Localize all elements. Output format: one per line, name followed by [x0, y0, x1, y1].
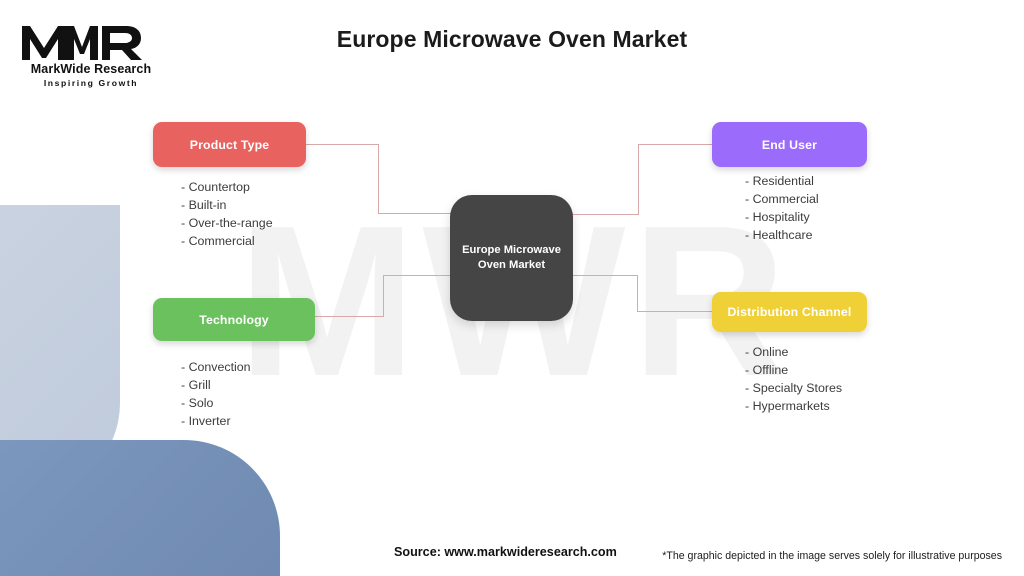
slide-canvas: MWR MarkWide Research Inspiring Growth E…: [0, 0, 1024, 576]
list-item: - Hypermarkets: [745, 397, 842, 415]
connector-product-type-seg3: [378, 213, 452, 214]
connector-technology-seg2: [383, 275, 384, 317]
branch-items-product-type: - Countertop - Built-in - Over-the-range…: [181, 178, 273, 250]
list-item: - Over-the-range: [181, 214, 273, 232]
branch-items-end-user: - Residential - Commercial - Hospitality…: [745, 172, 819, 244]
list-item: - Commercial: [745, 190, 819, 208]
brand-logo: MarkWide Research Inspiring Growth: [14, 20, 234, 92]
branch-label-product-type: Product Type: [190, 138, 269, 152]
center-node-label: Europe Microwave Oven Market: [454, 243, 569, 273]
logo-tagline: Inspiring Growth: [24, 78, 158, 88]
list-item: - Inverter: [181, 412, 251, 430]
branch-label-distribution-channel: Distribution Channel: [728, 305, 852, 319]
branch-label-end-user: End User: [762, 138, 817, 152]
branch-pill-product-type[interactable]: Product Type: [153, 122, 306, 167]
branch-items-distribution-channel: - Online - Offline - Specialty Stores - …: [745, 343, 842, 415]
page-title: Europe Microwave Oven Market: [212, 26, 812, 53]
list-item: - Countertop: [181, 178, 273, 196]
list-item: - Healthcare: [745, 226, 819, 244]
list-item: - Convection: [181, 358, 251, 376]
list-item: - Residential: [745, 172, 819, 190]
connector-product-type-seg2: [378, 144, 379, 213]
connector-technology-seg3: [383, 275, 452, 276]
list-item: - Built-in: [181, 196, 273, 214]
branch-items-technology: - Convection - Grill - Solo - Inverter: [181, 358, 251, 430]
connector-product-type-seg1: [306, 144, 379, 145]
connector-end-user-seg1: [572, 214, 639, 215]
connector-distribution-seg3: [637, 311, 714, 312]
list-item: - Solo: [181, 394, 251, 412]
branch-pill-end-user[interactable]: End User: [712, 122, 867, 167]
branch-label-technology: Technology: [199, 313, 269, 327]
source-text: Source: www.markwideresearch.com: [394, 545, 617, 559]
branch-pill-technology[interactable]: Technology: [153, 298, 315, 341]
connector-technology-seg1: [315, 316, 384, 317]
list-item: - Hospitality: [745, 208, 819, 226]
mwr-monogram-icon: [14, 20, 148, 64]
logo-company-name: MarkWide Research: [24, 62, 158, 76]
connector-end-user-seg2: [638, 144, 639, 215]
list-item: - Online: [745, 343, 842, 361]
disclaimer-text: *The graphic depicted in the image serve…: [662, 550, 1002, 562]
connector-distribution-seg1: [572, 275, 638, 276]
list-item: - Grill: [181, 376, 251, 394]
list-item: - Specialty Stores: [745, 379, 842, 397]
connector-end-user-seg3: [638, 144, 714, 145]
connector-distribution-seg2: [637, 275, 638, 312]
list-item: - Offline: [745, 361, 842, 379]
center-node[interactable]: Europe Microwave Oven Market: [450, 195, 573, 321]
list-item: - Commercial: [181, 232, 273, 250]
branch-pill-distribution-channel[interactable]: Distribution Channel: [712, 292, 867, 332]
decorative-shape-dark: [0, 440, 280, 576]
